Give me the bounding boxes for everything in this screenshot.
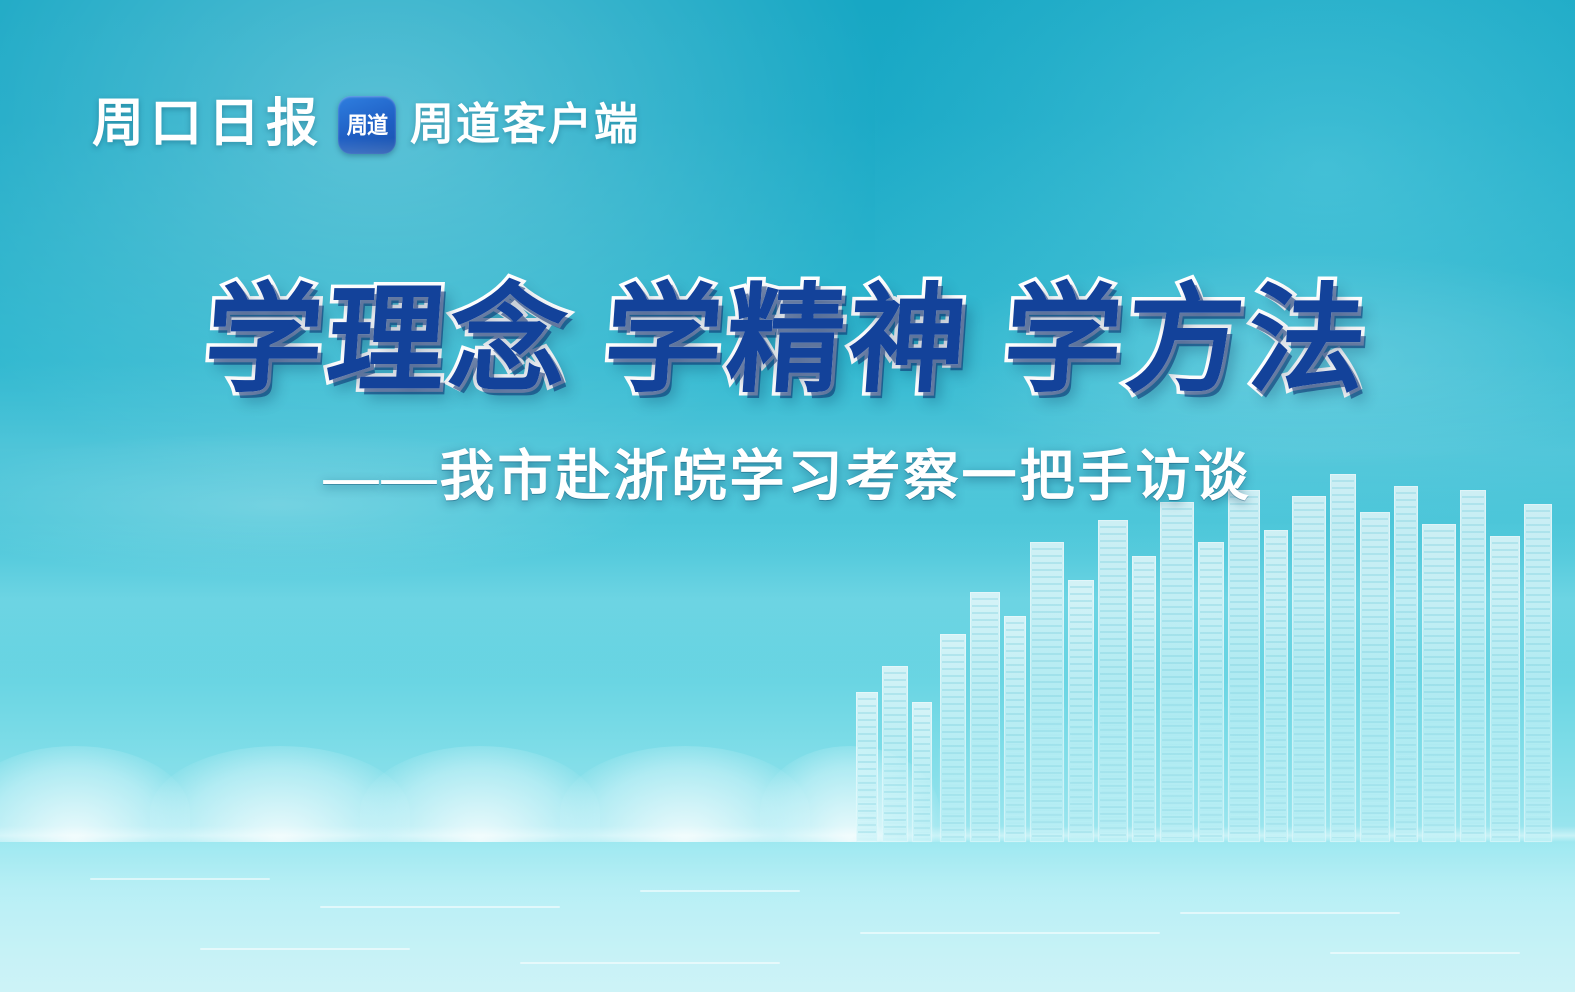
building-reflection	[882, 763, 908, 842]
building	[1160, 502, 1194, 842]
building-reflection	[1068, 724, 1094, 842]
building	[970, 592, 1000, 842]
tree-cluster	[360, 746, 600, 842]
building	[1330, 474, 1356, 842]
building-reflection	[912, 779, 932, 842]
water-ripple	[90, 878, 270, 880]
app-badge-icon[interactable]: 周道	[338, 96, 396, 154]
building-reflection	[1198, 707, 1224, 842]
shoreline	[0, 826, 1575, 842]
building	[1394, 486, 1418, 842]
water-ripple	[320, 906, 560, 908]
building	[1460, 490, 1486, 842]
page-subtitle: ——我市赴浙皖学习考察一把手访谈	[0, 431, 1575, 511]
building	[1292, 496, 1326, 842]
river-water	[0, 832, 1575, 992]
building	[1524, 504, 1552, 842]
water-ripple	[200, 948, 410, 950]
building	[1228, 490, 1260, 842]
building-reflection	[1030, 707, 1064, 842]
building-reflection	[1004, 740, 1026, 842]
water-ripple	[1330, 952, 1520, 954]
page-title: 学理念 学精神 学方法	[201, 278, 1375, 405]
building	[1264, 530, 1288, 842]
building-reflection	[940, 748, 966, 842]
poster-canvas: 周口日报 周道 周道客户端 学理念 学精神 学方法 ——我市赴浙皖学习考察一把手…	[0, 0, 1575, 992]
building-reflection	[1394, 682, 1418, 842]
building-reflection	[1228, 684, 1260, 842]
building-reflection	[1360, 694, 1390, 843]
building	[1132, 556, 1156, 842]
app-badge-label: 周道	[347, 114, 387, 137]
building	[1030, 542, 1064, 842]
building	[940, 634, 966, 842]
water-ripple	[860, 932, 1160, 934]
building-reflection	[1524, 690, 1552, 842]
tree-cluster	[0, 746, 190, 842]
building	[1004, 616, 1026, 842]
water-ripple	[520, 962, 780, 964]
building-reflection	[856, 775, 878, 843]
newspaper-masthead: 周口日报	[92, 99, 324, 151]
building-reflection	[1460, 684, 1486, 842]
building	[1422, 524, 1456, 842]
brand-logo-bar[interactable]: 周口日报 周道 周道客户端	[92, 88, 640, 162]
building-reflection	[1098, 697, 1128, 842]
cloud-band-lower	[0, 520, 1575, 680]
building	[912, 702, 932, 842]
building	[1198, 542, 1224, 842]
building-reflection	[1132, 713, 1156, 842]
water-ripple	[1180, 912, 1400, 914]
app-name-label: 周道客户端	[410, 103, 640, 147]
building-reflection	[1422, 699, 1456, 842]
building	[1490, 536, 1520, 842]
building	[882, 666, 908, 842]
building	[1098, 520, 1128, 842]
tree-cluster	[560, 746, 810, 842]
building-reflection	[1160, 689, 1194, 842]
building-reflection	[1264, 702, 1288, 842]
city-skyline	[0, 532, 1575, 992]
building	[1068, 580, 1094, 842]
building	[1360, 512, 1390, 842]
building-reflection	[970, 730, 1000, 843]
tree-cluster	[150, 746, 410, 842]
building-reflection	[1330, 676, 1356, 842]
building	[856, 692, 878, 842]
building-reflection	[1292, 686, 1326, 842]
tree-cluster	[760, 746, 940, 842]
building-reflection	[1490, 704, 1520, 842]
hero-title-block: 学理念 学精神 学方法 ——我市赴浙皖学习考察一把手访谈	[0, 278, 1575, 511]
water-ripple	[640, 890, 800, 892]
